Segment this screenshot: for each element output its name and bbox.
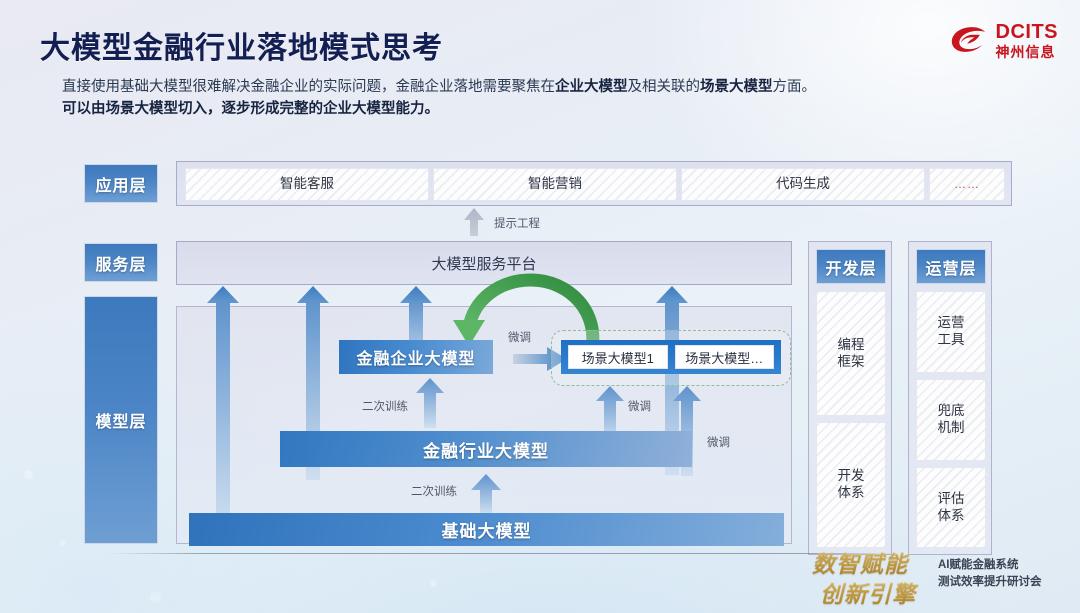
model-box-industry[interactable]: 金融行业大模型 xyxy=(280,431,692,467)
app-card-more[interactable]: …… xyxy=(929,168,1005,201)
subtitle-part-2: 及相关联的 xyxy=(628,79,701,95)
logo-text-group: DCITS 神州信息 xyxy=(996,22,1059,59)
dev-card-编程框架[interactable]: 编程 框架 xyxy=(816,291,886,416)
brand-logo: DCITS 神州信息 xyxy=(949,22,1059,59)
ops-card-运营工具[interactable]: 运营 工具 xyxy=(916,291,986,373)
subtitle-line-2: 可以由场景大模型切入，逐步形成完整的企业大模型能力。 xyxy=(62,98,962,120)
slide-canvas: 大模型金融行业落地模式思考 直接使用基础大模型很难解决金融企业的实际问题，金融企… xyxy=(0,0,1080,613)
event-name-line-1: AI赋能金融系统 xyxy=(938,557,1042,574)
scene-model-2[interactable]: 场景大模型… xyxy=(675,345,775,369)
ops-card-兜底机制[interactable]: 兜底 机制 xyxy=(916,379,986,461)
caption-retrain-1: 二次训练 xyxy=(362,398,408,414)
logo-cn: 神州信息 xyxy=(996,45,1059,59)
caption-prompt-engineering: 提示工程 xyxy=(494,215,540,231)
up-arrow-icon xyxy=(415,378,445,428)
prompt-engineering-arrow-icon xyxy=(463,208,485,236)
ops-card-评估体系[interactable]: 评估 体系 xyxy=(916,467,986,548)
app-card-智能客服[interactable]: 智能客服 xyxy=(185,168,429,201)
scene-model-1[interactable]: 场景大模型1 xyxy=(568,345,668,369)
model-box-foundation[interactable]: 基础大模型 xyxy=(189,513,784,546)
logo-en: DCITS xyxy=(996,22,1059,42)
page-subtitle: 直接使用基础大模型很难解决金融企业的实际问题，金融企业落地需要聚焦在企业大模型及… xyxy=(62,76,962,121)
caption-finetune-1: 微调 xyxy=(508,329,531,345)
layer-label-model: 模型层 xyxy=(84,296,158,544)
event-logo-line-2: 创新引擎 xyxy=(820,575,932,609)
bokeh-dot xyxy=(150,592,161,603)
event-name: AI赋能金融系统 测试效率提升研讨会 xyxy=(938,557,1042,592)
dev-card-开发体系[interactable]: 开发 体系 xyxy=(816,422,886,548)
scene-model-container: 场景大模型1 场景大模型… xyxy=(561,340,781,374)
layer-label-application: 应用层 xyxy=(84,164,158,203)
page-title: 大模型金融行业落地模式思考 xyxy=(40,23,443,67)
model-box-enterprise[interactable]: 金融企业大模型 xyxy=(339,340,493,374)
caption-finetune-2: 微调 xyxy=(628,398,651,414)
operation-column: 运营层 运营 工具 兜底 机制 评估 体系 xyxy=(908,241,992,555)
event-name-line-2: 测试效率提升研讨会 xyxy=(938,574,1042,591)
event-logo-line-1: 数智赋能 xyxy=(812,545,932,579)
layer-label-service: 服务层 xyxy=(84,243,158,282)
app-card-代码生成[interactable]: 代码生成 xyxy=(681,168,925,201)
application-layer-panel: 智能客服 智能营销 代码生成 …… xyxy=(176,161,1012,206)
subtitle-part-1: 直接使用基础大模型很难解决金融企业的实际问题，金融企业落地需要聚焦在 xyxy=(62,79,555,95)
bokeh-dot xyxy=(60,540,66,546)
layer-label-operation: 运营层 xyxy=(916,249,986,284)
bokeh-dot xyxy=(24,470,33,479)
layer-label-development: 开发层 xyxy=(816,249,886,284)
development-column: 开发层 编程 框架 开发 体系 xyxy=(808,241,892,555)
up-arrow-icon xyxy=(470,474,502,514)
bokeh-dot xyxy=(430,580,437,587)
subtitle-emph-scene: 场景大模型 xyxy=(700,79,773,95)
event-logo: 数智赋能 创新引擎 xyxy=(812,545,932,609)
app-card-智能营销[interactable]: 智能营销 xyxy=(433,168,677,201)
caption-finetune-3: 微调 xyxy=(707,434,730,450)
subtitle-emph-enterprise: 企业大模型 xyxy=(555,79,628,95)
long-up-arrow-shaft-icon xyxy=(206,300,240,530)
footer-divider xyxy=(110,553,900,554)
swirl-icon xyxy=(949,24,989,58)
subtitle-part-3: 方面。 xyxy=(773,79,817,95)
caption-retrain-2: 二次训练 xyxy=(411,483,457,499)
